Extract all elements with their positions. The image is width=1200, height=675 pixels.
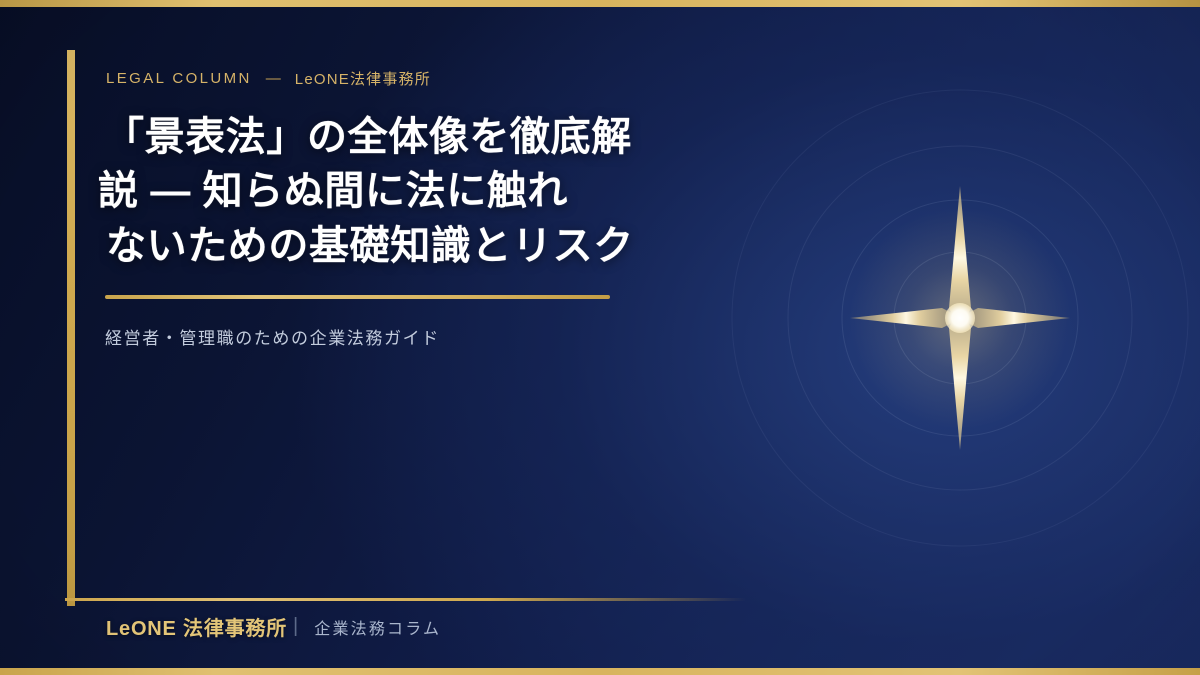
bottom-gold-edge [0, 668, 1200, 675]
four-pointed-star-icon [830, 168, 1090, 468]
footer-brand: LeONE 法律事務所 [106, 612, 287, 641]
footer: LeONE 法律事務所 | 企業法務コラム [106, 612, 441, 641]
title-line-3: ないための基礎知識とリスク [106, 219, 704, 273]
title-line-2: 説 ― 知らぬ間に法に触れ [98, 164, 704, 218]
page-title: 「景表法」の全体像を徹底解 説 ― 知らぬ間に法に触れ ないための基礎知識とリス… [104, 110, 704, 273]
footer-divider [65, 598, 746, 601]
footer-separator: | [293, 615, 298, 638]
eyebrow-brand: LeONE法律事務所 [295, 68, 431, 89]
subtitle-divider [105, 295, 610, 299]
eyebrow: LEGAL COLUMN — LeONE法律事務所 [106, 68, 431, 89]
eyebrow-kicker: LEGAL COLUMN [106, 70, 252, 87]
left-gold-rail [67, 50, 75, 606]
footer-label: 企業法務コラム [314, 615, 441, 639]
subtitle: 経営者・管理職のための企業法務ガイド [105, 324, 440, 349]
star-glow [845, 203, 1075, 433]
title-slide: LEGAL COLUMN — LeONE法律事務所 「景表法」の全体像を徹底解 … [0, 0, 1200, 675]
top-gold-edge [0, 0, 1200, 7]
eyebrow-dash-icon: — [266, 70, 281, 87]
title-line-1: 「景表法」の全体像を徹底解 [104, 110, 704, 164]
